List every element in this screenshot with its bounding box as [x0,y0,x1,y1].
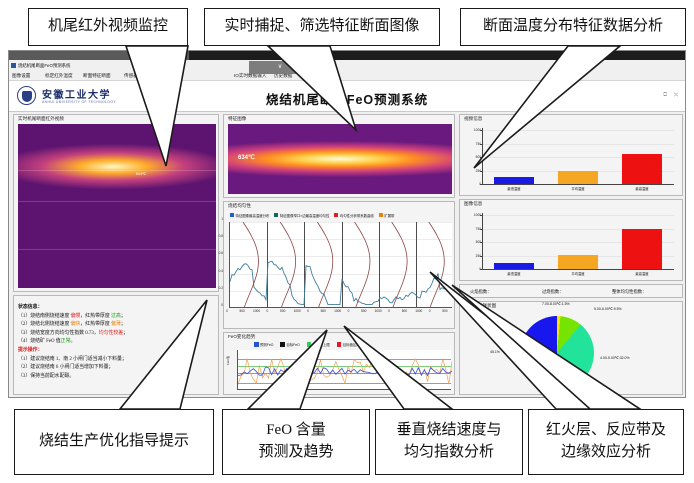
callout-leader [120,300,207,409]
callout-optimization-guidance-line1: 烧结生产优化指导提示 [39,431,189,453]
callout-vertical-speed: 垂直烧结速度与 均匀指数分析 [375,409,523,475]
callout-leader [344,326,452,409]
callout-optimization-guidance: 烧结生产优化指导提示 [14,409,214,475]
callout-leader [474,46,620,168]
callout-ir-monitoring-line: 机尾红外视频监控 [48,16,168,38]
callout-vertical-speed-line2: 均匀指数分析 [404,442,494,464]
callout-red-flame-layer: 红火层、反应带及 边缘效应分析 [528,409,684,475]
callout-temp-analysis-line: 断面温度分布特征数据分析 [483,16,663,38]
callout-red-flame-layer-line1: 红火层、反应带及 [546,420,666,442]
callout-vertical-speed-line1: 垂直烧结速度与 [396,420,501,442]
callout-feature-capture: 实时捕捉、筛选特征断面图像 [204,8,440,46]
callout-temp-analysis: 断面温度分布特征数据分析 [460,8,686,46]
callout-feo-content: FeO 含量 预测及趋势 [222,409,370,475]
callout-feature-capture-line: 实时捕捉、筛选特征断面图像 [224,16,419,38]
callout-feo-content-line2: 预测及趋势 [258,442,333,464]
callout-red-flame-layer-line2: 边缘效应分析 [561,442,651,464]
callout-leader [268,46,356,130]
callout-leader [248,330,327,409]
callout-feo-content-line1: FeO 含量 [266,420,326,442]
callout-ir-monitoring: 机尾红外视频监控 [28,8,188,46]
callout-leader [126,46,188,166]
